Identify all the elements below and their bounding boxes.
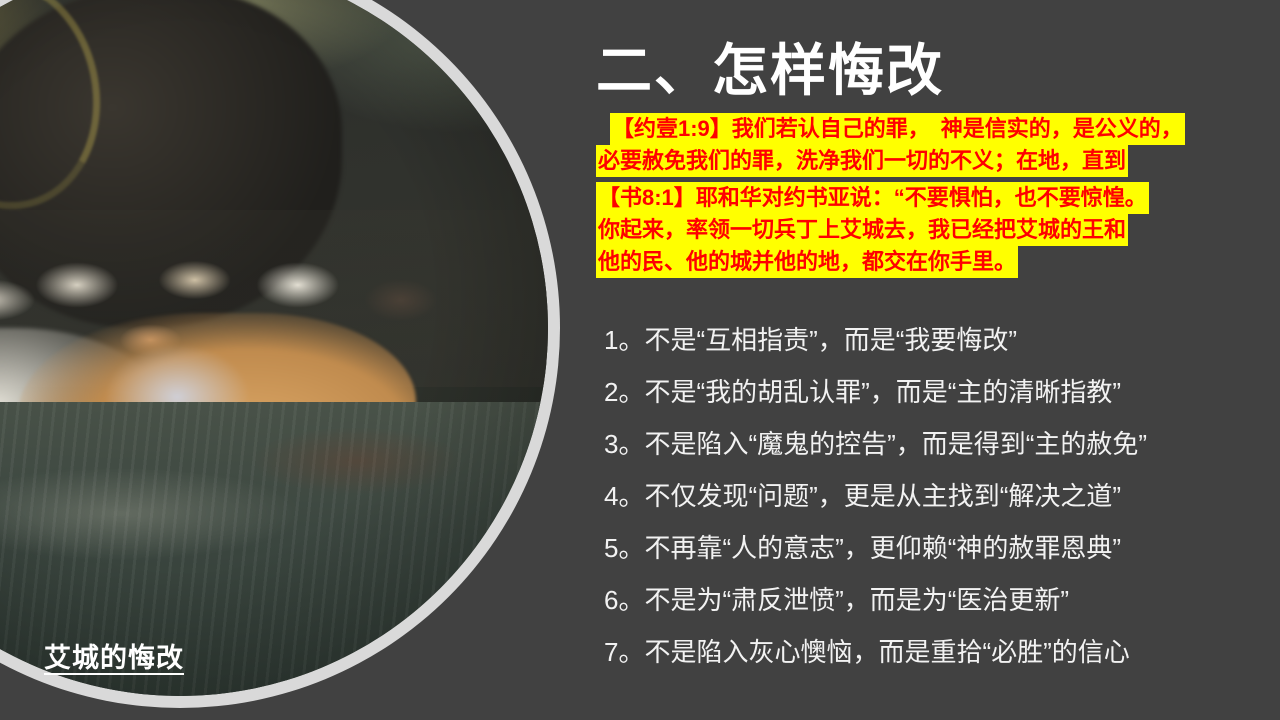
list-item: 4。不仅发现“问题”，更是从主找到“解决之道” [604,470,1280,522]
scripture-line: 【约壹1:9】我们若认自己的罪， 神是信实的，是公义的， [610,113,1185,145]
painting-mourning-figures [0,0,548,696]
painting-vignette [0,0,548,696]
list-item: 7。不是陷入灰心懊恼，而是重拾“必胜”的信心 [604,626,1280,678]
scripture-block: 【书8:1】耶和华对约书亚说：“不要惧怕，也不要惊惶。 你起来，率领一切兵丁上艾… [596,182,1280,278]
list-item: 5。不再靠“人的意志”，更仰赖“神的赦罪恩典” [604,522,1280,574]
page-title: 二、怎样悔改 [596,26,944,107]
image-caption: 艾城的悔改 [44,636,184,675]
scripture-line: 必要赦免我们的罪，洗净我们一切的不义；在地，直到 [596,145,1128,177]
content-column: 二、怎样悔改 【约壹1:9】我们若认自己的罪， 神是信实的，是公义的， 必要赦免… [588,0,1280,720]
list-item: 6。不是为“肃反泄愤”，而是为“医治更新” [604,574,1280,626]
circular-image-frame [0,0,560,708]
points-list: 1。不是“互相指责”，而是“我要悔改” 2。不是“我的胡乱认罪”，而是“主的清晰… [604,314,1280,678]
slide: 艾城的悔改 二、怎样悔改 【约壹1:9】我们若认自己的罪， 神是信实的，是公义的… [0,0,1280,720]
scripture-line: 你起来，率领一切兵丁上艾城去，我已经把艾城的王和 [596,214,1128,246]
image-clip [0,0,548,696]
scripture-quotes: 【约壹1:9】我们若认自己的罪， 神是信实的，是公义的， 必要赦免我们的罪，洗净… [596,113,1280,283]
list-item: 3。不是陷入“魔鬼的控告”，而是得到“主的赦免” [604,418,1280,470]
list-item: 1。不是“互相指责”，而是“我要悔改” [604,314,1280,366]
scripture-block: 【约壹1:9】我们若认自己的罪， 神是信实的，是公义的， 必要赦免我们的罪，洗净… [596,113,1280,177]
list-item: 2。不是“我的胡乱认罪”，而是“主的清晰指教” [604,366,1280,418]
scripture-line: 【书8:1】耶和华对约书亚说：“不要惧怕，也不要惊惶。 [596,182,1149,214]
scripture-line: 他的民、他的城并他的地，都交在你手里。 [596,246,1018,278]
